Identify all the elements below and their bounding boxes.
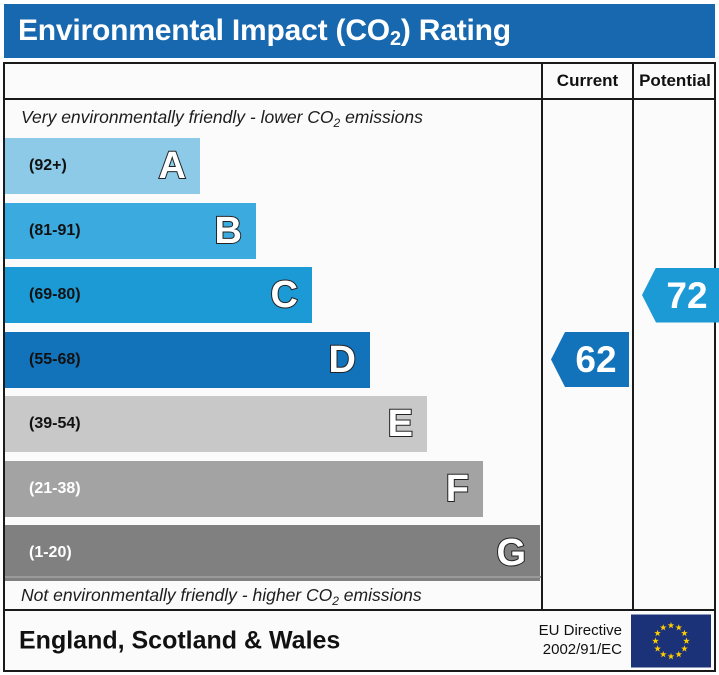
band-letter-c: C	[271, 276, 298, 314]
page-title: Environmental Impact (CO2) Rating	[18, 14, 511, 48]
rating-band-b: (81-91)B	[5, 203, 256, 259]
band-letter-d: D	[329, 341, 356, 379]
column-divider-potential	[632, 64, 634, 609]
column-header-current: Current	[543, 64, 632, 98]
caption-bottom-subscript: 2	[332, 594, 339, 608]
band-bar-e: (39-54)E	[5, 396, 427, 452]
band-letter-b: B	[215, 212, 242, 250]
caption-bottom: Not environmentally friendly - higher CO…	[5, 576, 541, 610]
page-title-prefix: Environmental Impact (CO	[18, 14, 390, 47]
caption-top: Very environmentally friendly - lower CO…	[5, 100, 541, 134]
band-range-g: (1-20)	[29, 544, 72, 562]
band-bar-g: (1-20)G	[5, 525, 540, 581]
band-bar-d: (55-68)D	[5, 332, 370, 388]
footer-directive-line1: EU Directive	[539, 621, 622, 641]
band-range-f: (21-38)	[29, 480, 81, 498]
band-range-c: (69-80)	[29, 286, 81, 304]
band-range-b: (81-91)	[29, 222, 81, 240]
chart-footer: England, Scotland & Wales EU Directive 2…	[3, 611, 716, 672]
table-header-row: Current Potential	[5, 64, 714, 100]
caption-top-suffix: emissions	[340, 107, 423, 127]
footer-region-label: England, Scotland & Wales	[19, 626, 340, 655]
footer-directive: EU Directive 2002/91/EC	[539, 621, 622, 661]
rating-band-a: (92+)A	[5, 138, 200, 194]
column-divider-current	[541, 64, 543, 609]
rating-number-potential: 72	[654, 277, 707, 314]
band-letter-e: E	[388, 405, 413, 443]
rating-table: Current Potential Very environmentally f…	[3, 62, 716, 611]
chart-title-bar: Environmental Impact (CO2) Rating	[4, 4, 715, 58]
eu-flag-icon	[631, 614, 711, 667]
environmental-impact-rating-chart: Environmental Impact (CO2) Rating Curren…	[0, 0, 719, 675]
band-bar-b: (81-91)B	[5, 203, 256, 259]
caption-top-subscript: 2	[334, 116, 341, 130]
caption-bottom-prefix: Not environmentally friendly - higher CO	[21, 585, 332, 605]
band-letter-f: F	[446, 470, 469, 508]
band-letter-a: A	[159, 147, 186, 185]
caption-bottom-suffix: emissions	[339, 585, 422, 605]
band-range-e: (39-54)	[29, 415, 81, 433]
caption-top-prefix: Very environmentally friendly - lower CO	[21, 107, 334, 127]
band-bar-c: (69-80)C	[5, 267, 312, 323]
rating-band-e: (39-54)E	[5, 396, 427, 452]
rating-band-g: (1-20)G	[5, 525, 540, 581]
rating-value-current: 62	[551, 332, 629, 387]
rating-bands: (92+)A(81-91)B(69-80)C(55-68)D(39-54)E(2…	[5, 138, 541, 576]
band-range-a: (92+)	[29, 157, 67, 175]
rating-value-potential: 72	[642, 268, 719, 323]
band-bar-a: (92+)A	[5, 138, 200, 194]
band-range-d: (55-68)	[29, 351, 81, 369]
rating-band-c: (69-80)C	[5, 267, 312, 323]
band-letter-g: G	[496, 534, 526, 572]
rating-number-current: 62	[563, 341, 616, 378]
footer-directive-line2: 2002/91/EC	[539, 641, 622, 661]
page-title-subscript: 2	[390, 28, 401, 50]
page-title-suffix: ) Rating	[401, 14, 511, 47]
column-header-potential: Potential	[634, 64, 716, 98]
rating-band-d: (55-68)D	[5, 332, 370, 388]
band-bar-f: (21-38)F	[5, 461, 483, 517]
rating-band-f: (21-38)F	[5, 461, 483, 517]
